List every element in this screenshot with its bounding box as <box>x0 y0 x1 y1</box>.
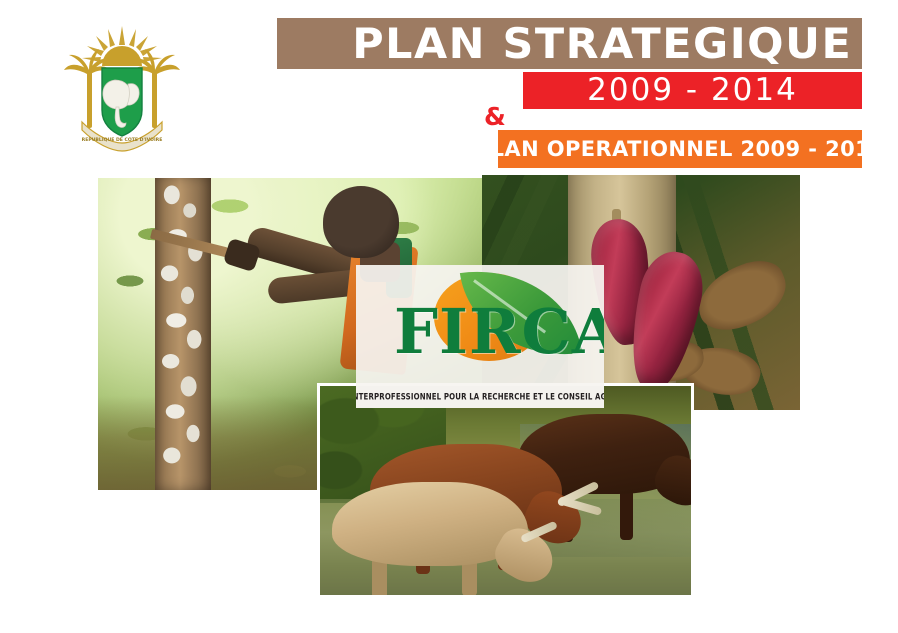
coat-of-arms-emblem: REPUBLIQUE DE COTE D'IVOIRE <box>58 12 186 160</box>
firca-wordmark: FIRCA <box>394 301 604 363</box>
firca-tagline-text: FONDS INTERPROFESSIONNEL POUR LA RECHERC… <box>356 392 604 402</box>
title-bar-strategic: PLAN STRATEGIQUE <box>277 18 862 69</box>
title-years-text: 2009 - 2014 <box>587 75 798 106</box>
worker-head <box>323 186 399 258</box>
title-bar-years: 2009 - 2014 <box>523 72 862 109</box>
title-secondary-text: PLAN OPERATIONNEL 2009 - 2011 <box>475 139 885 160</box>
firca-logo-card: FIRCA FONDS INTERPROFESSIONNEL POUR LA R… <box>356 265 604 408</box>
sun-disc-icon <box>102 46 142 66</box>
scroll-banner-text: REPUBLIQUE DE COTE D'IVOIRE <box>82 137 163 143</box>
rubber-tree-trunk <box>155 178 211 490</box>
photo-cattle-watering <box>317 383 694 598</box>
document-cover: REPUBLIQUE DE COTE D'IVOIRE PLAN STRATEG… <box>0 0 898 633</box>
firca-tagline-band: FONDS INTERPROFESSIONNEL POUR LA RECHERC… <box>356 386 604 408</box>
coat-of-arms-icon: REPUBLIQUE DE COTE D'IVOIRE <box>58 12 186 160</box>
ampersand-symbol: & <box>484 104 506 129</box>
title-main-text: PLAN STRATEGIQUE <box>352 23 852 65</box>
latex-patches <box>155 178 211 490</box>
title-bar-operational: PLAN OPERATIONNEL 2009 - 2011 <box>498 130 862 168</box>
